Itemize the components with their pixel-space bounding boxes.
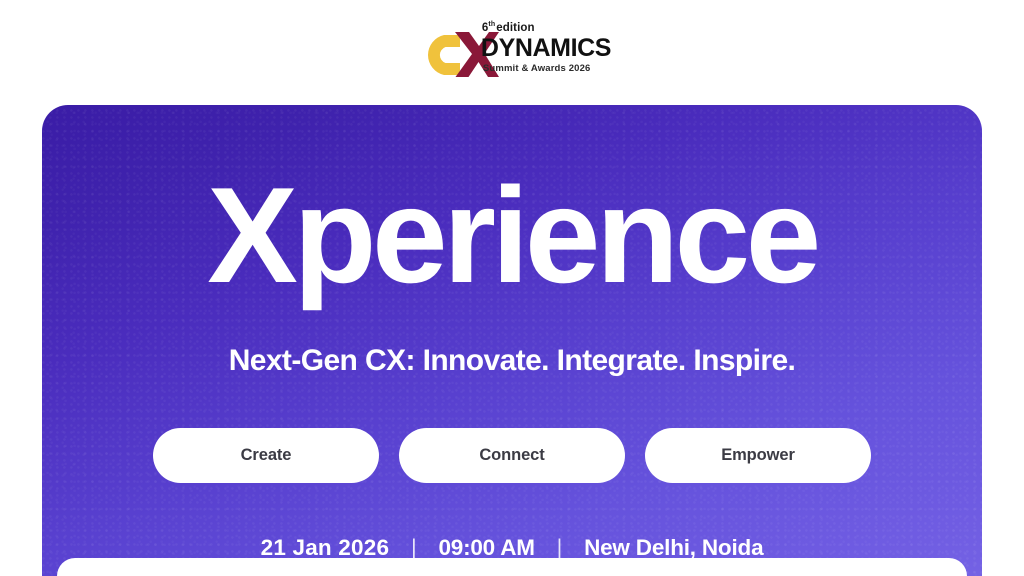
- next-section-panel: [57, 558, 967, 576]
- page-title: Xperience: [207, 167, 817, 303]
- hero-subtitle: Next-Gen CX: Innovate. Integrate. Inspir…: [229, 346, 796, 376]
- event-separator-1: |: [411, 536, 416, 560]
- landing-page: 6thedition DYNAMICS Summit & Awards 2026…: [0, 0, 1024, 576]
- hero-card: Xperience Next-Gen CX: Innovate. Integra…: [42, 105, 982, 576]
- logo-bar: 6thedition DYNAMICS Summit & Awards 2026: [0, 0, 1024, 104]
- event-separator-2: |: [557, 536, 562, 560]
- logo-tagline: Summit & Awards 2026: [483, 63, 591, 74]
- hero-content: Xperience Next-Gen CX: Innovate. Integra…: [42, 105, 982, 576]
- cx-dynamics-logo[interactable]: 6thedition DYNAMICS Summit & Awards 2026: [413, 20, 611, 84]
- connect-button[interactable]: Connect: [399, 428, 625, 483]
- logo-wordmark: 6thedition DYNAMICS Summit & Awards 2026: [481, 20, 611, 74]
- logo-edition-label: 6thedition: [482, 22, 535, 34]
- create-button[interactable]: Create: [153, 428, 379, 483]
- logo-brand-name: DYNAMICS: [481, 35, 611, 61]
- empower-button[interactable]: Empower: [645, 428, 871, 483]
- hero-action-buttons: Create Connect Empower: [153, 428, 871, 483]
